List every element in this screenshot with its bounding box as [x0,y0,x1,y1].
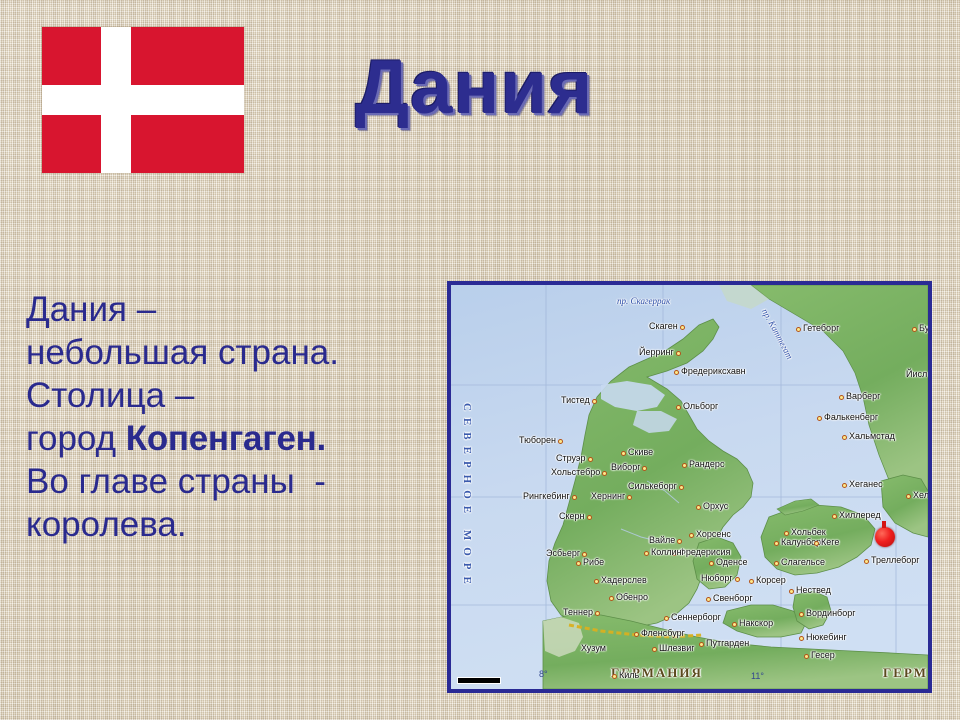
text-line: Дания – [26,288,436,331]
slide-canvas: Дания Дания – небольшая страна. Столица … [0,0,960,720]
text-line: королева. [26,503,436,546]
map-graphic [451,285,928,689]
text-line: Во главе страны - [26,460,436,503]
capital-marker-copenhagen [875,527,895,547]
denmark-map-figure: пр. Скагеррак пр. Каттегат СЕВЕРНОЕ МОРЕ… [447,281,932,693]
slide-title: Дания [355,50,593,126]
map-scale-bar [457,677,501,684]
text-line: небольшая страна. [26,331,436,374]
text-line-prefix: город [26,419,126,458]
flag-cross-horizontal [42,85,244,115]
text-line: Столица – [26,374,436,417]
text-line-capital: город Копенгаген. [26,417,436,460]
capital-name-emphasis: Копенгаген. [126,419,326,458]
denmark-flag-image [42,27,244,173]
body-text-block: Дания – небольшая страна. Столица – горо… [26,288,436,546]
